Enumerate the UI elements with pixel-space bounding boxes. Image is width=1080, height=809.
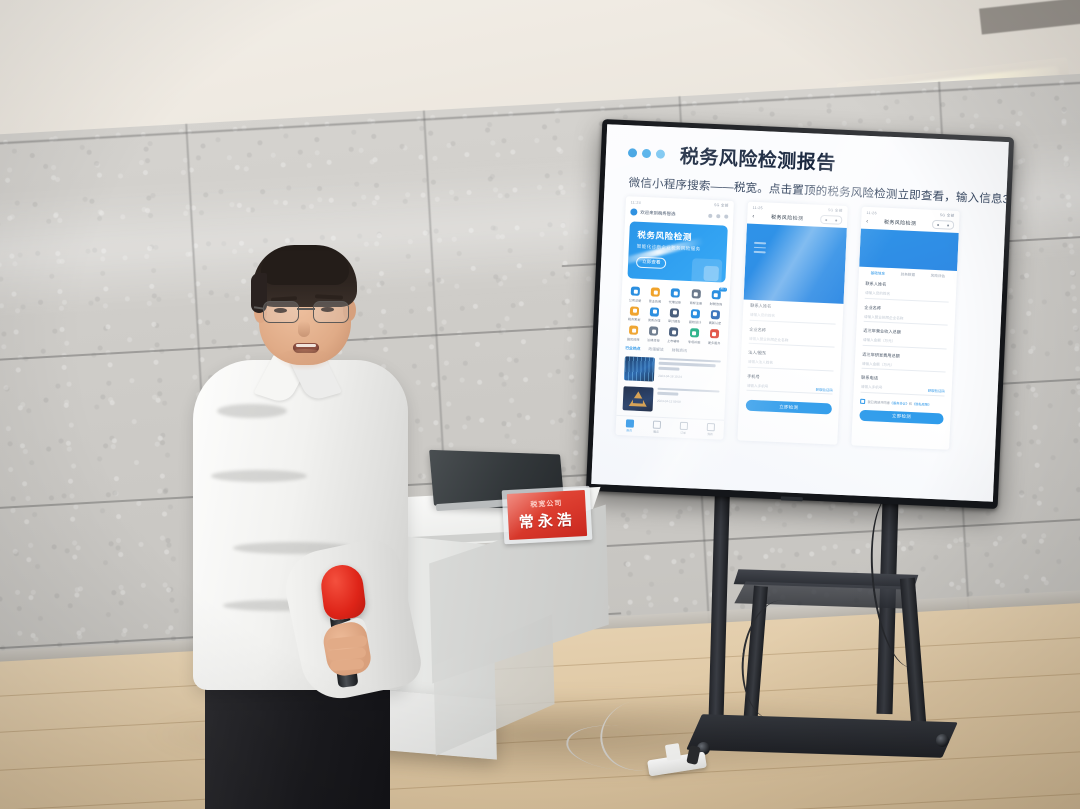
slide-content: 税务风险检测报告 微信小程序搜索——税宽。点击置顶的税务风险检测立即查看，输入信… xyxy=(591,124,1009,502)
news-tab[interactable]: 政策解读 xyxy=(648,347,663,353)
grid-item-label: 营业执照 xyxy=(649,298,662,303)
grid-item-label: 财税咨询 xyxy=(709,301,722,306)
form-hero-banner xyxy=(744,224,847,304)
teeth xyxy=(296,344,316,347)
close-circle-icon xyxy=(947,224,949,226)
risk-detection-banner[interactable]: 税务风险检测 智能化诊断企业税务风险服务 立即查看 xyxy=(627,221,727,282)
grid-item[interactable]: 更多服务 xyxy=(704,329,724,345)
service-icon-grid: 公司注册 营业执照 代理记账 商标注册 热门财税咨询 税务筹划 资质办理 审计报… xyxy=(620,281,731,347)
nameplate: 税宽公司 常永浩 xyxy=(507,490,587,540)
bottom-tab-bar[interactable]: 首页 服务 订单 我的 xyxy=(615,414,724,439)
more-dots-icon xyxy=(937,224,939,226)
header-icons xyxy=(708,213,728,218)
grid-item-label: 资质办理 xyxy=(648,317,661,322)
back-icon[interactable]: ‹ xyxy=(866,218,868,224)
grid-item[interactable]: 园区招商 xyxy=(624,325,644,341)
nav-title: 税务风险检测 xyxy=(771,214,804,222)
grid-item-label: 代理记账 xyxy=(669,299,682,304)
privacy-policy-link[interactable]: 《隐私政策》 xyxy=(912,402,931,407)
tab-profile[interactable]: 我的 xyxy=(706,422,715,435)
grid-item[interactable]: 商标注册 xyxy=(686,289,706,305)
grid-item[interactable]: 热门财税咨询 xyxy=(706,290,726,306)
text-input[interactable]: 请输入金额（万元） xyxy=(862,360,946,373)
text-input[interactable]: 请输入金额（万元） xyxy=(863,336,947,349)
status-indicators: 5G 全部 xyxy=(714,203,729,209)
grid-item[interactable]: 高新认定 xyxy=(705,309,725,325)
form-field[interactable]: 手机号 请输入手机号 获取验证码 xyxy=(739,370,840,398)
news-card[interactable]: 2023-04-12 09:08 xyxy=(616,382,725,417)
input-placeholder: 请输入法人姓名 xyxy=(748,360,773,366)
banner-title: 税务风险检测 xyxy=(637,229,719,245)
news-text: 2023-04-18 10:24 xyxy=(658,357,721,384)
submit-button[interactable]: 立即检测 xyxy=(859,410,943,425)
tv-stand-caster xyxy=(936,734,949,747)
news-tab[interactable]: 财税资讯 xyxy=(672,348,687,354)
status-indicators: 5G 全部 xyxy=(940,213,955,219)
news-thumbnail xyxy=(623,386,654,411)
text-input[interactable]: 请输入营业执照企业名称 xyxy=(749,335,835,348)
panel-miniprogram-home: 11:24 5G 全部 欢迎来到税务智选 税务风险检测 智能化诊 xyxy=(615,196,734,439)
tv-screen[interactable]: 税务风险检测报告 微信小程序搜索——税宽。点击置顶的税务风险检测立即查看，输入信… xyxy=(591,124,1009,502)
input-placeholder: 请输入手机号 xyxy=(861,385,883,391)
slide-panels: 11:24 5G 全部 欢迎来到税务智选 税务风险检测 智能化诊 xyxy=(609,196,989,451)
form-tab[interactable]: 财务数据 xyxy=(901,272,916,278)
eyeglasses xyxy=(261,301,353,323)
grid-item-label: 股权设计 xyxy=(688,319,701,324)
presentation-display[interactable]: 税务风险检测报告 微信小程序搜索——税宽。点击置顶的税务风险检测立即查看，输入信… xyxy=(586,119,1014,509)
nameplate-gloss xyxy=(507,490,587,540)
text-input[interactable]: 请输入营业执照企业名称 xyxy=(864,313,948,326)
chin-highlight xyxy=(275,349,335,371)
welcome-text: 欢迎来到税务智选 xyxy=(640,209,705,218)
tab-service[interactable]: 服务 xyxy=(652,420,661,433)
target-icon xyxy=(724,214,728,218)
phone-input[interactable]: 请输入手机号 获取验证码 xyxy=(747,382,833,395)
person-icon xyxy=(706,422,714,430)
agreement-text: 我已阅读并同意《服务协议》和《隐私政策》 xyxy=(867,399,931,407)
input-placeholder: 请输入手机号 xyxy=(747,383,769,389)
text-input[interactable]: 请输入您的姓名 xyxy=(865,289,949,302)
grid-item-label: 公司注册 xyxy=(629,297,642,302)
input-placeholder: 请输入营业执照企业名称 xyxy=(864,314,904,321)
grid-icon xyxy=(652,420,660,428)
more-dots-icon xyxy=(825,219,827,221)
slide-dot-icon xyxy=(628,148,637,157)
grid-item[interactable]: 公司注册 xyxy=(625,286,645,302)
news-card[interactable]: 2023-04-18 10:24 xyxy=(618,352,727,387)
close-circle-icon xyxy=(835,219,837,221)
panel-detection-form-extended: 11:26 5G 全部 ‹ 税务风险检测 基础信息 财务数据 风险评估 xyxy=(851,207,960,450)
submit-button[interactable]: 立即检测 xyxy=(746,400,832,415)
status-time: 11:26 xyxy=(866,210,876,214)
banner-text-lines xyxy=(754,242,767,256)
nameplate-card: 税宽公司 常永浩 xyxy=(507,490,587,540)
slide-title: 税务风险检测报告 xyxy=(679,142,836,176)
wechat-capsule-button[interactable] xyxy=(820,215,842,225)
grid-item[interactable]: 法律咨询 xyxy=(644,326,664,342)
news-thumbnail xyxy=(624,356,655,381)
grid-item-label: 商标注册 xyxy=(689,300,702,305)
grid-item[interactable]: 营业执照 xyxy=(646,287,666,303)
agreement-prefix: 我已阅读并同意 xyxy=(867,400,889,405)
presenter-hair-front xyxy=(261,251,349,285)
form-tab[interactable]: 风险评估 xyxy=(931,274,946,280)
grid-item-label: 法律咨询 xyxy=(647,337,660,342)
lens-right xyxy=(313,301,349,323)
input-placeholder: 请输入金额（万元） xyxy=(863,338,896,344)
tab-home[interactable]: 首页 xyxy=(625,419,634,432)
grid-item[interactable]: 审计报告 xyxy=(665,308,685,324)
get-code-link[interactable]: 获取验证码 xyxy=(928,388,945,394)
grid-item[interactable]: 税务筹划 xyxy=(625,306,645,322)
get-code-link[interactable]: 获取验证码 xyxy=(816,386,833,392)
banner-decoration xyxy=(703,266,719,282)
input-placeholder: 请输入金额（万元） xyxy=(862,361,895,367)
status-time: 11:25 xyxy=(753,205,763,209)
agreement-checkbox[interactable] xyxy=(860,398,866,404)
tab-orders[interactable]: 订单 xyxy=(679,421,688,434)
lens-left xyxy=(263,301,299,323)
heart-icon xyxy=(679,421,687,429)
more-icon xyxy=(716,214,720,218)
text-input[interactable]: 请输入法人姓名 xyxy=(748,358,834,371)
news-date: 2023-04-18 10:24 xyxy=(658,373,720,380)
slide-dot-icon xyxy=(642,149,651,158)
input-placeholder: 请输入您的姓名 xyxy=(750,313,775,319)
input-placeholder: 请输入营业执照企业名称 xyxy=(749,336,789,343)
grid-item-label: 更多服务 xyxy=(708,340,721,345)
grid-item[interactable]: 资质办理 xyxy=(645,307,665,323)
warning-triangle-icon xyxy=(629,391,648,407)
news-tab[interactable]: 行业热点 xyxy=(625,346,640,352)
grid-item-badge: 热门 xyxy=(719,287,727,291)
grid-item[interactable]: 专项补贴 xyxy=(684,328,704,344)
grid-item-label: 上市辅导 xyxy=(667,338,680,343)
grid-item-label: 园区招商 xyxy=(627,336,640,341)
phone-input[interactable]: 请输入手机号 获取验证码 xyxy=(861,383,945,396)
grid-item-label: 专项补贴 xyxy=(688,339,701,344)
presenter xyxy=(175,245,455,809)
grid-item[interactable]: 股权设计 xyxy=(685,308,705,324)
wechat-capsule-button[interactable] xyxy=(932,220,954,230)
input-placeholder: 请输入您的姓名 xyxy=(865,291,890,297)
grid-item-label: 税务筹划 xyxy=(628,316,641,321)
back-icon[interactable]: ‹ xyxy=(752,213,754,219)
nose xyxy=(298,321,310,337)
news-text: 2023-04-12 09:08 xyxy=(657,387,720,414)
grid-item[interactable]: 代理记账 xyxy=(666,288,686,304)
panel-detection-form: 11:25 5G 全部 ‹ 税务风险检测 联系人姓名 xyxy=(737,202,848,445)
service-agreement-link[interactable]: 《服务协议》 xyxy=(890,401,909,406)
grid-item[interactable]: 上市辅导 xyxy=(664,327,684,343)
nav-title: 税务风险检测 xyxy=(884,219,917,227)
search-icon xyxy=(708,213,712,217)
glasses-bridge xyxy=(297,308,315,310)
presentation-room-photo: 税务风险检测报告 微信小程序搜索——税宽。点击置顶的税务风险检测立即查看，输入信… xyxy=(0,0,1080,809)
avatar xyxy=(630,208,637,215)
slide-dot-icon xyxy=(656,149,665,158)
status-time: 11:24 xyxy=(631,200,641,204)
home-icon xyxy=(625,419,633,427)
text-input[interactable]: 请输入您的姓名 xyxy=(750,311,836,324)
grid-item-label: 审计报告 xyxy=(668,318,681,323)
grid-item-label: 高新认定 xyxy=(709,320,722,325)
slide-dots xyxy=(628,148,665,159)
status-indicators: 5G 全部 xyxy=(828,208,843,214)
form-tab[interactable]: 基础信息 xyxy=(871,271,886,277)
form-hero-banner xyxy=(859,229,959,271)
news-date: 2023-04-12 09:08 xyxy=(657,399,719,406)
